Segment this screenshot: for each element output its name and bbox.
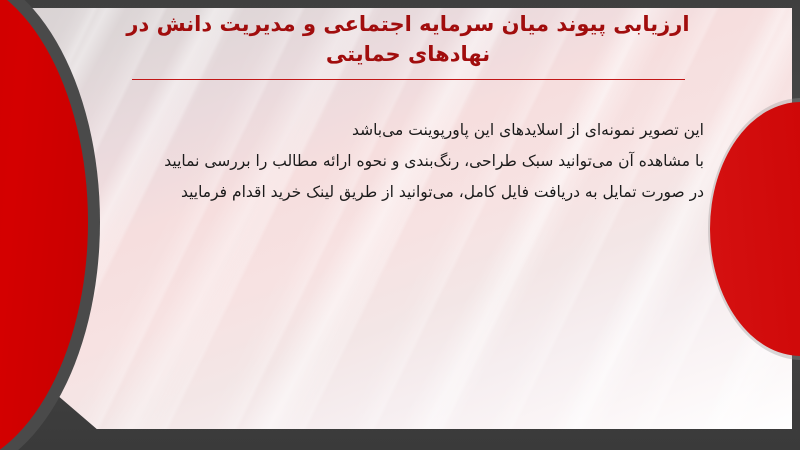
page-title: ارزیابی پیوند میان سرمایه اجتماعی و مدیر… (88, 10, 728, 70)
body-line-1: این تصویر نمونه‌ای از اسلایدهای این پاور… (104, 118, 704, 143)
slide-body-block: این تصویر نمونه‌ای از اسلایدهای این پاور… (104, 118, 704, 205)
slide-title-block: ارزیابی پیوند میان سرمایه اجتماعی و مدیر… (88, 10, 728, 80)
body-line-2: با مشاهده آن می‌توانید سبک طراحی، رنگ‌بن… (104, 149, 704, 174)
body-line-3: در صورت تمایل به دریافت فایل کامل، می‌تو… (104, 180, 704, 205)
presentation-slide: ارزیابی پیوند میان سرمایه اجتماعی و مدیر… (0, 0, 800, 450)
title-divider (132, 79, 685, 80)
